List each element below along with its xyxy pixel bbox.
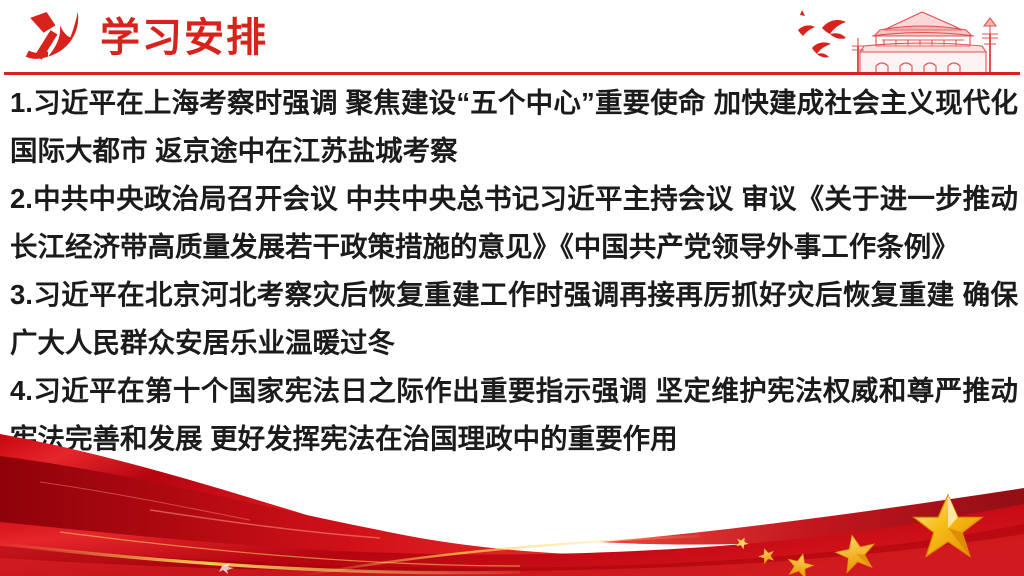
hammer-sickle-icon <box>16 9 92 67</box>
list-item: 3.习近平在北京河北考察灾后恢复重建工作时强调再接再厉抓好灾后恢复重建 确保广大… <box>10 271 1018 367</box>
list-item: 4.习近平在第十个国家宪法日之际作出重要指示强调 坚定维护宪法权威和尊严推动宪法… <box>10 367 1018 463</box>
tiananmen-gate-icon <box>772 0 1024 74</box>
list-item: 2.中共中央政治局召开会议 中共中央总书记习近平主持会议 审议《关于进一步推动长… <box>10 175 1018 271</box>
slide-header: 学习安排 <box>0 0 1024 74</box>
slide-canvas: 学习安排 <box>0 0 1024 576</box>
doves-icon <box>798 10 846 57</box>
gold-stars-icon <box>734 495 982 576</box>
news-list: 1.习近平在上海考察时强调 聚焦建设“五个中心”重要使命 加快建成社会主义现代化… <box>10 79 1018 463</box>
page-title: 学习安排 <box>100 14 268 62</box>
list-item: 1.习近平在上海考察时强调 聚焦建设“五个中心”重要使命 加快建成社会主义现代化… <box>10 79 1018 175</box>
header-divider <box>4 72 1020 75</box>
